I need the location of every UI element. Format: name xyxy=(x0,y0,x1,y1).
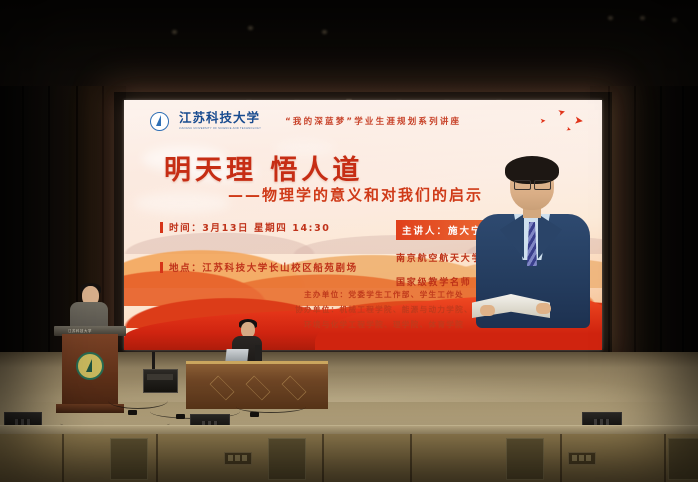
stage-curtain-right xyxy=(590,86,698,364)
podium-emblem-icon xyxy=(76,352,104,380)
wall-socket[interactable] xyxy=(224,452,252,465)
auditorium-scene: 江苏科技大学 JIANGSU UNIVERSITY OF SCIENCE AND… xyxy=(0,0,698,482)
organizer-line-1: 主办单位：党委学生工作部、学生工作处 xyxy=(266,288,502,303)
ceiling-light xyxy=(672,18,677,22)
thermos-bottle xyxy=(255,345,261,361)
ceiling-light xyxy=(640,16,645,20)
ceiling-light xyxy=(172,30,177,34)
bird-icon: ➤ xyxy=(557,107,567,118)
university-name-cn: 江苏科技大学 xyxy=(179,112,261,125)
ceiling-light xyxy=(322,30,327,34)
wall-socket[interactable] xyxy=(568,452,596,465)
ceiling-light xyxy=(608,16,613,20)
podium-plate-text: 江苏科技大学 xyxy=(68,328,92,333)
university-logo-icon xyxy=(150,112,169,131)
bird-icon: ➤ xyxy=(540,118,546,125)
bird-icon: ➤ xyxy=(573,115,584,127)
series-title: “我的深蓝梦”学业生涯规划系列讲座 xyxy=(285,115,461,127)
ceiling xyxy=(0,0,698,100)
speaker-portrait xyxy=(474,160,592,328)
projection-screen: 江苏科技大学 JIANGSU UNIVERSITY OF SCIENCE AND… xyxy=(124,100,602,350)
portrait-hand xyxy=(480,305,495,316)
organizer-line-3: 环境与化学工程学院、理学院、体育学院 xyxy=(266,318,502,333)
ceiling-light xyxy=(248,26,253,30)
poster-title: 明天理 悟人道 xyxy=(164,148,363,187)
tick-marker-icon xyxy=(160,262,163,273)
wall-vent xyxy=(506,438,544,480)
organizer-line-2: 协办单位：机械工程学院、能源与动力学院、 xyxy=(266,303,502,318)
event-info-row: 地点：江苏科技大学长山校区船苑剧场 xyxy=(160,260,410,274)
floor-connector xyxy=(128,410,137,415)
event-location: 地点：江苏科技大学长山校区船苑剧场 xyxy=(169,260,358,274)
mic-stand xyxy=(152,352,155,370)
event-info-row: 时间：3月13日 星期四 14:30 xyxy=(160,220,410,234)
floor-connector xyxy=(176,414,185,419)
wall-vent xyxy=(110,438,148,480)
poster-subtitle: ——物理学的意义和对我们的启示 xyxy=(228,184,483,205)
wall-vent xyxy=(268,438,306,480)
birds-decoration: ➤ ➤ ➤ ➤ xyxy=(528,106,588,134)
equipment-case xyxy=(143,369,178,393)
wall-vent xyxy=(668,438,698,480)
floor-cable xyxy=(236,400,306,413)
tick-marker-icon xyxy=(160,222,163,233)
organizer-info: 主办单位：党委学生工作部、学生工作处 协办单位：机械工程学院、能源与动力学院、 … xyxy=(266,288,502,332)
glasses-icon xyxy=(534,180,551,190)
laptop-icon xyxy=(225,349,248,361)
event-time: 时间：3月13日 星期四 14:30 xyxy=(169,220,331,234)
floor-connector xyxy=(250,412,259,417)
cloud xyxy=(134,192,230,214)
bird-icon: ➤ xyxy=(565,126,572,133)
poster-header: 江苏科技大学 JIANGSU UNIVERSITY OF SCIENCE AND… xyxy=(150,108,582,134)
stage-front-panel xyxy=(0,434,698,482)
portrait-hand xyxy=(536,303,551,314)
glasses-icon xyxy=(514,180,531,190)
university-name-en: JIANGSU UNIVERSITY OF SCIENCE AND TECHNO… xyxy=(179,127,261,130)
portrait-hair xyxy=(505,156,559,184)
